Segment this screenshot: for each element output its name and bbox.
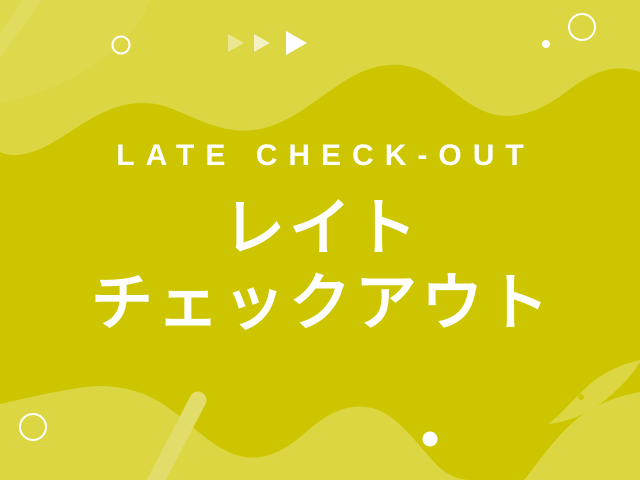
promo-banner: LATE CHECK-OUT レイト チェックアウト [0,0,640,480]
headline-group: LATE CHECK-OUT レイト チェックアウト [0,0,640,480]
headline-english: LATE CHECK-OUT [0,136,640,176]
headline-japanese-line-1: レイト [0,192,640,264]
headline-japanese-line-2: チェックアウト [0,267,640,339]
